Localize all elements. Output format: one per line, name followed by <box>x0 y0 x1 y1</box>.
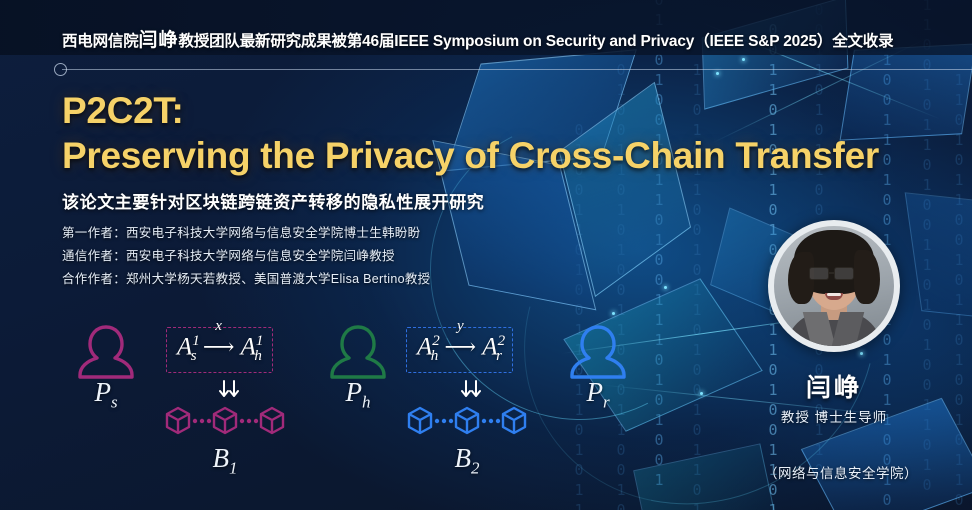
header-scholar-name: 闫峥 <box>139 30 179 51</box>
person-icon <box>327 323 389 381</box>
transfer-1-box: A1sx⟶A1h <box>166 327 273 373</box>
chain-2-base: B <box>455 443 472 473</box>
actor-hub-label: Ph <box>322 379 394 410</box>
actor-hub-base: P <box>346 377 363 407</box>
chain-2-sub: 2 <box>471 458 480 477</box>
avatar-glasses-left <box>809 267 829 280</box>
chain-1-sub: 1 <box>229 458 238 477</box>
actor-receiver-label: Pr <box>562 379 634 410</box>
t2-from-base: A <box>417 333 432 360</box>
transfer-2-formula: A2hy⟶A2r <box>417 334 502 364</box>
person-icon <box>567 323 629 381</box>
sparkle-dot <box>742 58 745 61</box>
actor-sender-sub: s <box>111 392 118 411</box>
t1-to-sub: h <box>254 348 262 364</box>
binary-column: 1 1 0 0 1 0 1 1 0 1 0 0 1 1 0 1 0 1 0 0 … <box>914 0 940 510</box>
polygon-shard <box>905 192 972 319</box>
profile-name: 闫峥 <box>768 368 900 404</box>
actor-receiver: Pr <box>562 323 634 410</box>
transfer-1-down-arrow <box>217 380 243 407</box>
chain-1-blocks-icon <box>164 405 286 439</box>
subtitle: 该论文主要针对区块链跨链资产转移的隐私性展开研究 <box>62 188 484 213</box>
chain-2-blocks-icon <box>406 405 528 439</box>
chain-1: B1 <box>164 405 286 476</box>
profile-titles: 教授 博士生导师 <box>748 406 920 426</box>
chain-1-base: B <box>213 443 230 473</box>
poster-canvas: 1 0 1 0 0 1 1 0 1 0 1 0 0 1 1 0 1 0 1 1 … <box>0 0 972 510</box>
author-line-corresp: 通信作者：西安电子科技大学网络与信息安全学院闫峥教授 <box>62 245 430 268</box>
actor-sender-base: P <box>94 377 111 407</box>
avatar-ring <box>768 220 900 352</box>
author-list: 第一作者：西安电子科技大学网络与信息安全学院博士生韩盼盼 通信作者：西安电子科技… <box>62 222 430 291</box>
actor-sender-label: Ps <box>70 379 142 410</box>
actor-sender: Ps <box>70 323 142 410</box>
actor-hub-sub: h <box>362 392 371 411</box>
t2-arrow: y⟶ <box>438 336 482 358</box>
actor-receiver-base: P <box>586 377 603 407</box>
t1-from-base: A <box>177 333 192 360</box>
title-line-1: P2C2T: <box>62 90 184 131</box>
page-title: P2C2T: Preserving the Privacy of Cross-C… <box>62 88 952 178</box>
t2-from-sub: h <box>431 348 439 364</box>
avatar-photo <box>774 226 894 346</box>
cross-chain-diagram: Ps A1sx⟶A1h B1 <box>0 315 700 495</box>
t1-arrow: x⟶ <box>197 336 241 358</box>
sparkle-dot <box>716 72 719 75</box>
sparkle-dot <box>664 286 667 289</box>
profile-department: （网络与信息安全学院） <box>736 462 946 482</box>
transfer-2-box: A2hy⟶A2r <box>406 327 513 373</box>
sparkle-dot <box>860 352 863 355</box>
t1-arrow-label: x <box>197 319 241 334</box>
actor-hub: Ph <box>322 323 394 410</box>
transfer-2-down-arrow <box>459 380 485 407</box>
person-icon <box>75 323 137 381</box>
t2-to-sup: 2 <box>498 333 506 349</box>
avatar <box>768 220 900 352</box>
t2-to-sub: r <box>496 348 502 364</box>
header-headline: 西电网信院闫峥教授团队最新研究成果被第46届IEEE Symposium on … <box>62 25 893 52</box>
t2-arrow-label: y <box>438 319 482 334</box>
header-rest: 教授团队最新研究成果被第46届IEEE Symposium on Securit… <box>179 33 894 50</box>
t1-to-sup: 1 <box>256 333 264 349</box>
avatar-hair-right <box>854 250 880 304</box>
author-line-collab: 合作作者：郑州大学杨天若教授、美国普渡大学Elisa Bertino教授 <box>62 268 430 291</box>
sparkle-dot <box>700 392 703 395</box>
title-line-2: Preserving the Privacy of Cross-Chain Tr… <box>62 133 952 178</box>
chain-1-label: B1 <box>164 445 286 476</box>
avatar-glasses-right <box>834 267 854 280</box>
header-institute: 西电网信院 <box>62 33 139 50</box>
double-down-arrow-icon <box>217 380 243 402</box>
actor-receiver-sub: r <box>603 392 610 411</box>
double-down-arrow-icon <box>459 380 485 402</box>
chain-2-label: B2 <box>406 445 528 476</box>
author-line-first: 第一作者：西安电子科技大学网络与信息安全学院博士生韩盼盼 <box>62 222 430 245</box>
avatar-glasses-bridge <box>829 272 834 274</box>
chain-2: B2 <box>406 405 528 476</box>
transfer-1-formula: A1sx⟶A1h <box>177 334 262 364</box>
header-divider <box>62 69 972 70</box>
